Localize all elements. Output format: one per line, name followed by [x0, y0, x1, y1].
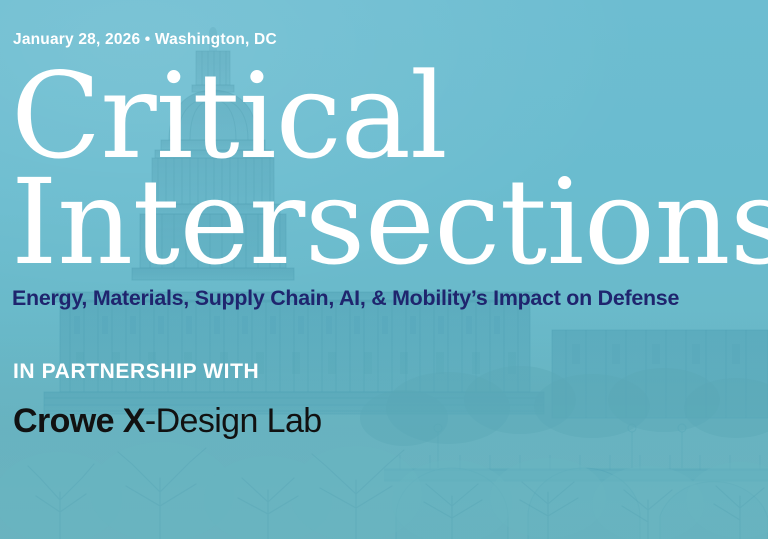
- page-title-line-2: Intersections: [11, 163, 768, 281]
- partner-logo: Crowe X-Design Lab: [13, 402, 322, 441]
- partner-logo-bold: Crowe X: [13, 402, 145, 440]
- event-banner: January 28, 2026 • Washington, DC Critic…: [0, 0, 768, 539]
- event-subtitle: Energy, Materials, Supply Chain, AI, & M…: [12, 286, 679, 311]
- banner-content: January 28, 2026 • Washington, DC Critic…: [0, 0, 768, 539]
- partner-logo-regular: -Design Lab: [145, 402, 322, 440]
- partnership-label: IN PARTNERSHIP WITH: [13, 360, 259, 384]
